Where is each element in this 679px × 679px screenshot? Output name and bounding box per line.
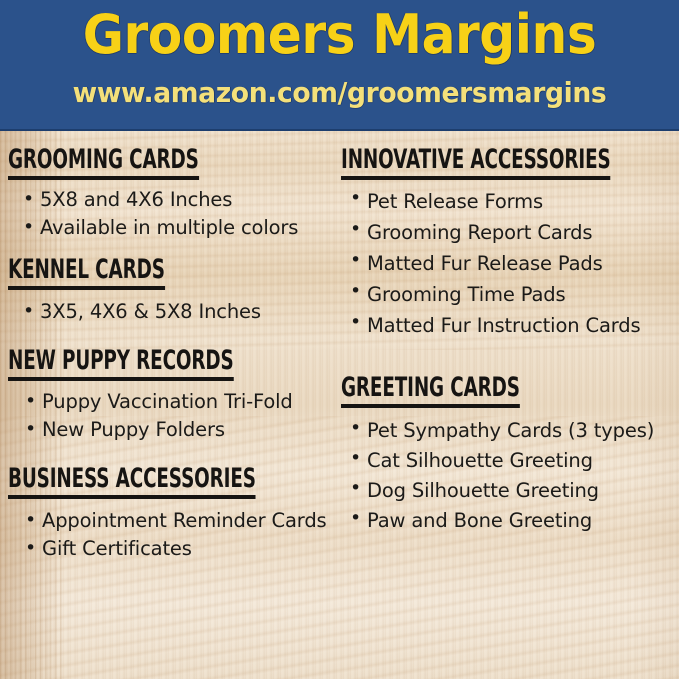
- section-grooming-cards: GROOMING CARDS 5X8 and 4X6 Inches Availa…: [8, 145, 340, 241]
- list-item: Dog Silhouette Greeting: [347, 476, 679, 506]
- section-kennel-cards: KENNEL CARDS 3X5, 4X6 & 5X8 Inches: [8, 255, 340, 325]
- product-feature-poster: Groomers Margins www.amazon.com/groomers…: [0, 0, 679, 679]
- section-heading: GROOMING CARDS: [8, 145, 199, 180]
- section-business-accessories: BUSINESS ACCESSORIES Appointment Reminde…: [8, 464, 340, 562]
- section-heading: NEW PUPPY RECORDS: [8, 346, 234, 381]
- list-item: 3X5, 4X6 & 5X8 Inches: [20, 299, 340, 325]
- list-item: Appointment Reminder Cards: [22, 508, 340, 534]
- section-item-list: Pet Release Forms Grooming Report Cards …: [347, 186, 679, 341]
- list-item: Pet Sympathy Cards (3 types): [347, 416, 679, 446]
- store-url: www.amazon.com/groomersmargins: [17, 76, 662, 110]
- list-item: Available in multiple colors: [20, 215, 340, 241]
- left-column: GROOMING CARDS 5X8 and 4X6 Inches Availa…: [8, 131, 340, 564]
- right-column: INNOVATIVE ACCESSORIES Pet Release Forms…: [341, 131, 679, 536]
- list-item: Cat Silhouette Greeting: [347, 446, 679, 476]
- list-item: New Puppy Folders: [22, 417, 340, 443]
- section-item-list: Puppy Vaccination Tri-Fold New Puppy Fol…: [22, 389, 340, 443]
- wood-background-panel: GROOMING CARDS 5X8 and 4X6 Inches Availa…: [0, 131, 679, 679]
- section-heading: INNOVATIVE ACCESSORIES: [341, 145, 611, 180]
- list-item: Paw and Bone Greeting: [347, 506, 679, 536]
- list-item: Matted Fur Instruction Cards: [347, 310, 679, 341]
- list-item: 5X8 and 4X6 Inches: [20, 187, 340, 213]
- list-item: Grooming Time Pads: [347, 279, 679, 310]
- section-greeting-cards: GREETING CARDS Pet Sympathy Cards (3 typ…: [341, 373, 679, 536]
- section-item-list: Pet Sympathy Cards (3 types) Cat Silhoue…: [347, 416, 679, 536]
- list-item: Grooming Report Cards: [347, 217, 679, 248]
- section-heading: GREETING CARDS: [341, 373, 520, 408]
- section-item-list: 3X5, 4X6 & 5X8 Inches: [20, 299, 340, 325]
- list-item: Pet Release Forms: [347, 186, 679, 217]
- brand-title: Groomers Margins: [24, 4, 655, 66]
- section-new-puppy-records: NEW PUPPY RECORDS Puppy Vaccination Tri-…: [8, 346, 340, 443]
- list-item: Gift Certificates: [22, 536, 340, 562]
- list-item: Puppy Vaccination Tri-Fold: [22, 389, 340, 415]
- section-heading: KENNEL CARDS: [8, 255, 165, 290]
- poster-header: Groomers Margins www.amazon.com/groomers…: [0, 0, 679, 131]
- section-innovative-accessories: INNOVATIVE ACCESSORIES Pet Release Forms…: [341, 145, 679, 341]
- feature-columns: GROOMING CARDS 5X8 and 4X6 Inches Availa…: [0, 131, 679, 679]
- section-heading: BUSINESS ACCESSORIES: [8, 464, 256, 499]
- section-item-list: Appointment Reminder Cards Gift Certific…: [22, 508, 340, 562]
- list-item: Matted Fur Release Pads: [347, 248, 679, 279]
- section-item-list: 5X8 and 4X6 Inches Available in multiple…: [20, 187, 340, 241]
